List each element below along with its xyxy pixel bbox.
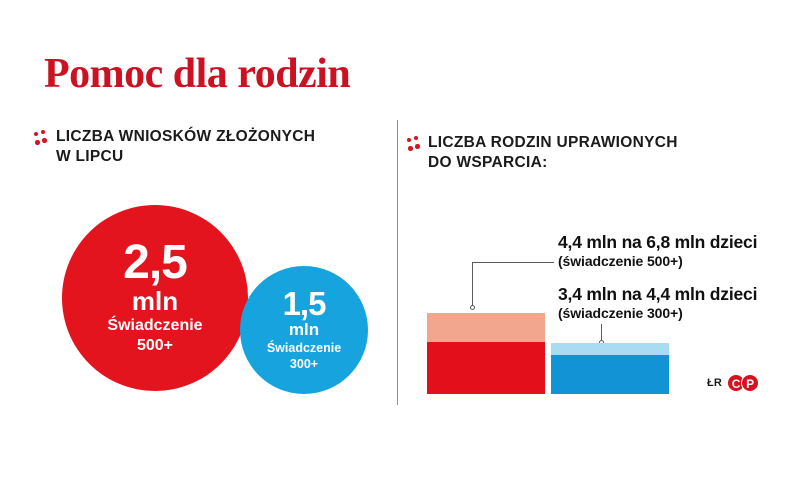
bar-swiadczenie-300 bbox=[551, 343, 669, 394]
bullet-dots-icon bbox=[34, 130, 48, 148]
page-title: Pomoc dla rodzin bbox=[44, 52, 350, 96]
bubble-label-300-b: 300+ bbox=[290, 357, 318, 372]
bubble-value-300: 1,5 bbox=[283, 288, 326, 319]
bubble-value-500: 2,5 bbox=[123, 241, 187, 285]
credit-block: ŁR C P bbox=[707, 374, 767, 392]
bar-500-segment-children bbox=[427, 313, 545, 342]
annotation-300-main: 3,4 mln na 4,4 mln dzieci bbox=[558, 284, 757, 305]
bubble-unit-300: mln bbox=[289, 320, 319, 340]
publisher-logo-icon: C P bbox=[727, 374, 767, 392]
annotation-300-sub: (świadczenie 300+) bbox=[558, 305, 757, 322]
annotation-500-main: 4,4 mln na 6,8 mln dzieci bbox=[558, 232, 757, 253]
bar-500-segment-families bbox=[427, 342, 545, 394]
bar-300-segment-families bbox=[551, 355, 669, 394]
annotation-500: 4,4 mln na 6,8 mln dzieci (świadczenie 5… bbox=[558, 232, 757, 270]
left-section-heading: Liczba wniosków złożonych w lipcu bbox=[56, 127, 376, 167]
bubble-label-500-b: 500+ bbox=[137, 337, 173, 355]
bubble-swiadczenie-300: 1,5 mln Świadczenie 300+ bbox=[240, 266, 368, 394]
bar-300-segment-children bbox=[551, 343, 669, 355]
author-initials: ŁR bbox=[707, 377, 722, 389]
annotation-500-sub: (świadczenie 500+) bbox=[558, 253, 757, 270]
bubble-swiadczenie-500: 2,5 mln Świadczenie 500+ bbox=[62, 205, 248, 391]
right-section-heading: Liczba rodzin uprawionych do wsparcia: bbox=[428, 133, 758, 173]
annotation-300: 3,4 mln na 4,4 mln dzieci (świadczenie 3… bbox=[558, 284, 757, 322]
section-divider bbox=[397, 120, 398, 405]
bubble-label-300-a: Świadczenie bbox=[267, 341, 341, 356]
bubble-unit-500: mln bbox=[132, 287, 178, 315]
infographic-page: Pomoc dla rodzin Liczba wniosków złożony… bbox=[0, 0, 805, 495]
bar-swiadczenie-500 bbox=[427, 313, 545, 394]
bullet-dots-icon-right bbox=[407, 136, 421, 154]
logo-mark-p: P bbox=[741, 374, 759, 392]
bubble-label-500-a: Świadczenie bbox=[107, 317, 202, 335]
